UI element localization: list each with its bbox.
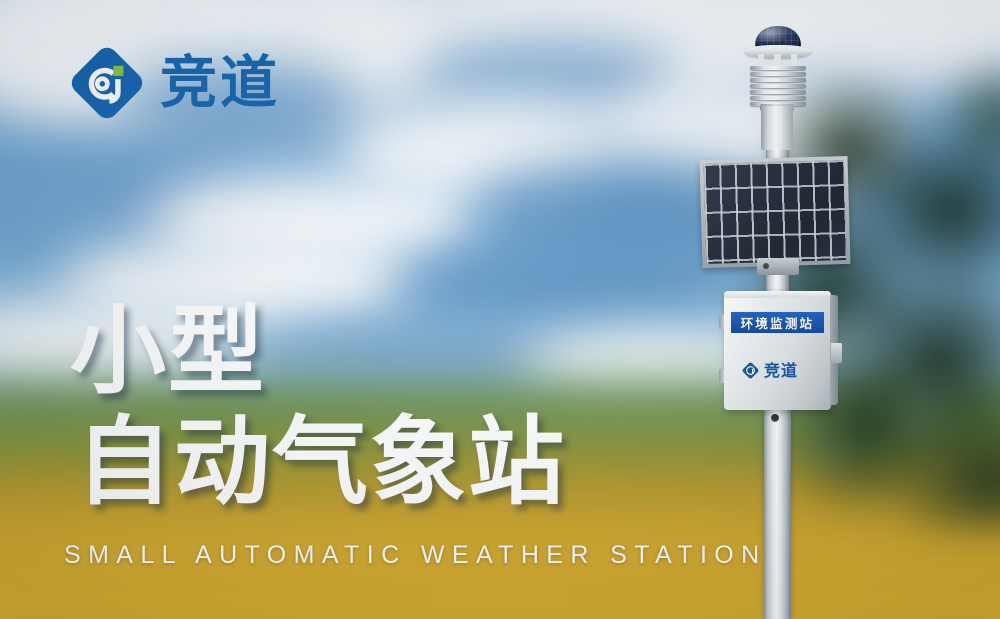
enclosure-latch <box>831 343 842 363</box>
enclosure-lug <box>719 315 724 329</box>
enclosure-lug <box>719 369 724 383</box>
mounting-pole-lower <box>764 410 791 619</box>
page-title: 小型 自动气象站 <box>70 296 566 519</box>
enclosure-box: 环境监测站 竞道 <box>724 291 831 410</box>
brand-name: 竞道 <box>160 55 280 112</box>
enclosure-brand-text: 竞道 <box>764 363 798 379</box>
jingdao-diamond-logo-icon <box>741 361 760 380</box>
title-line-1: 小型 <box>70 295 266 407</box>
enclosure-brand-logo: 竞道 <box>741 361 798 380</box>
enclosure-top-edge <box>724 291 831 298</box>
page-subtitle: SMALL AUTOMATIC WEATHER STATION <box>64 541 767 570</box>
enclosure-label-text: 环境监测站 <box>741 313 815 332</box>
hero-banner: 环境监测站 竞道 竞道 小型 自动气象站 <box>0 0 1000 619</box>
solar-panel-cells <box>704 160 847 264</box>
jingdao-diamond-logo-icon <box>68 44 146 122</box>
enclosure-label-band: 环境监测站 <box>731 312 824 333</box>
solar-panel-bracket <box>757 258 799 275</box>
solar-panel-icon <box>700 156 851 268</box>
pole-bolt-icon <box>771 414 779 422</box>
title-line-2: 自动气象站 <box>76 407 566 518</box>
radiation-shield-icon <box>750 66 806 108</box>
sensor-neck <box>761 106 793 150</box>
brand-logo[interactable]: 竞道 <box>68 44 280 122</box>
